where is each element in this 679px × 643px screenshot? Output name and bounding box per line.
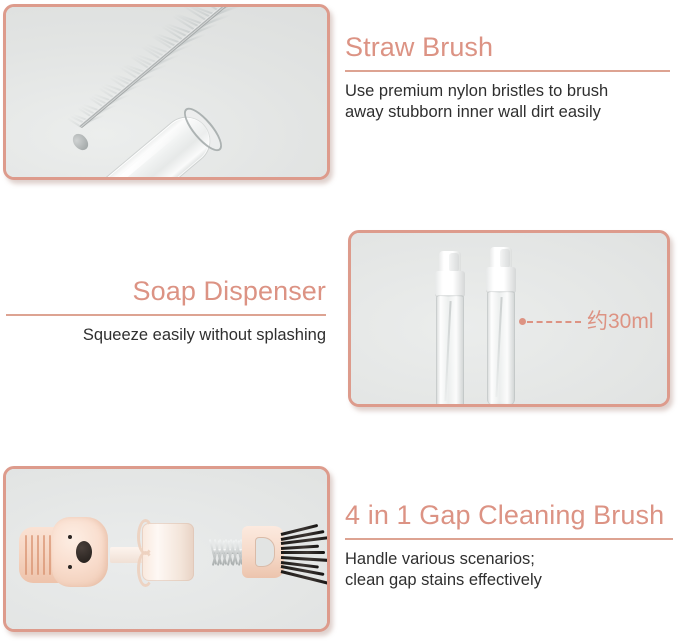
soap-dispenser-text-block: Soap Dispenser Squeeze easily without sp… [6, 274, 326, 346]
soap-dispenser-description: Squeeze easily without splashing [6, 325, 326, 346]
gap-brush-divider [345, 538, 673, 540]
body-lip-bottom [137, 551, 154, 587]
gap-brush-text-block: 4 in 1 Gap Cleaning Brush Handle various… [345, 498, 673, 591]
spray-pump-collar [435, 271, 465, 296]
spray-bottles-photo: 约30ml [351, 233, 667, 404]
capacity-callout: 约30ml [519, 311, 654, 332]
straw-brush-image-panel [3, 4, 330, 180]
gap-brush-image-panel [3, 466, 330, 632]
cap-oval-marking [76, 541, 92, 563]
straw-brush-description: Use premium nylon bristles to brush away… [345, 81, 670, 123]
body-lip-top [137, 519, 154, 555]
straw-brush-heading: Straw Brush [345, 30, 670, 64]
straw-brush-text-block: Straw Brush Use premium nylon bristles t… [345, 30, 670, 123]
capacity-label: 约30ml [587, 311, 654, 332]
soap-dispenser-image-panel: 约30ml [348, 230, 670, 407]
black-bristle-brush [281, 527, 327, 579]
soap-dispenser-heading: Soap Dispenser [6, 274, 326, 308]
spray-nozzle [490, 247, 512, 269]
soap-dispenser-divider [6, 314, 326, 316]
gap-brush-photo [6, 469, 327, 629]
gap-brush-description: Handle various scenarios; clean gap stai… [345, 549, 673, 591]
d-ring-hole [255, 537, 275, 567]
cap-dot-upper [68, 535, 72, 539]
straw-brush-photo [6, 7, 327, 177]
spray-pump-collar [486, 267, 516, 292]
straw-brush-divider [345, 70, 670, 72]
cap-dot-lower [68, 565, 72, 569]
callout-leader-line [527, 321, 581, 323]
callout-dot-icon [519, 318, 526, 325]
spray-nozzle [439, 251, 461, 273]
gap-brush-heading: 4 in 1 Gap Cleaning Brush [345, 498, 673, 532]
